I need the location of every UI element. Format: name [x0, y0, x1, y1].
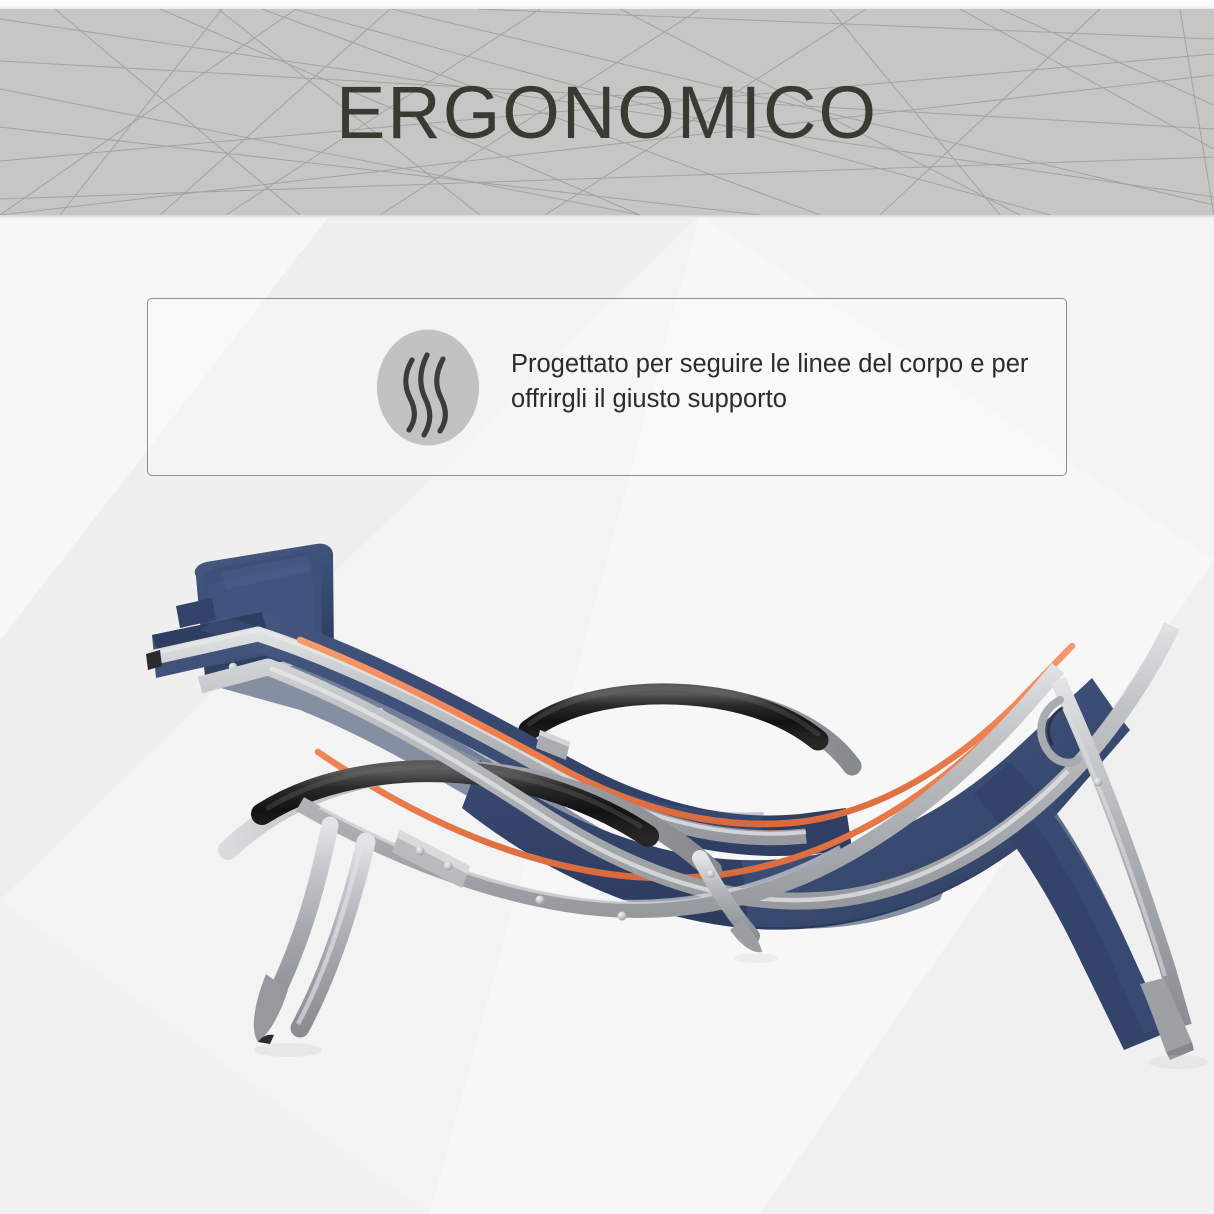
- header-banner: ERGONOMICO: [0, 9, 1214, 215]
- header-bottom-edge: [0, 215, 1214, 218]
- product-image: [0, 430, 1214, 1214]
- feature-description: Progettato per seguire le linee del corp…: [511, 347, 1031, 417]
- page-title: ERGONOMICO: [0, 9, 1214, 215]
- banner-stage: ERGONOMICO Progettato per seguire le lin…: [0, 0, 1214, 1214]
- top-edge-strip: [0, 0, 1214, 9]
